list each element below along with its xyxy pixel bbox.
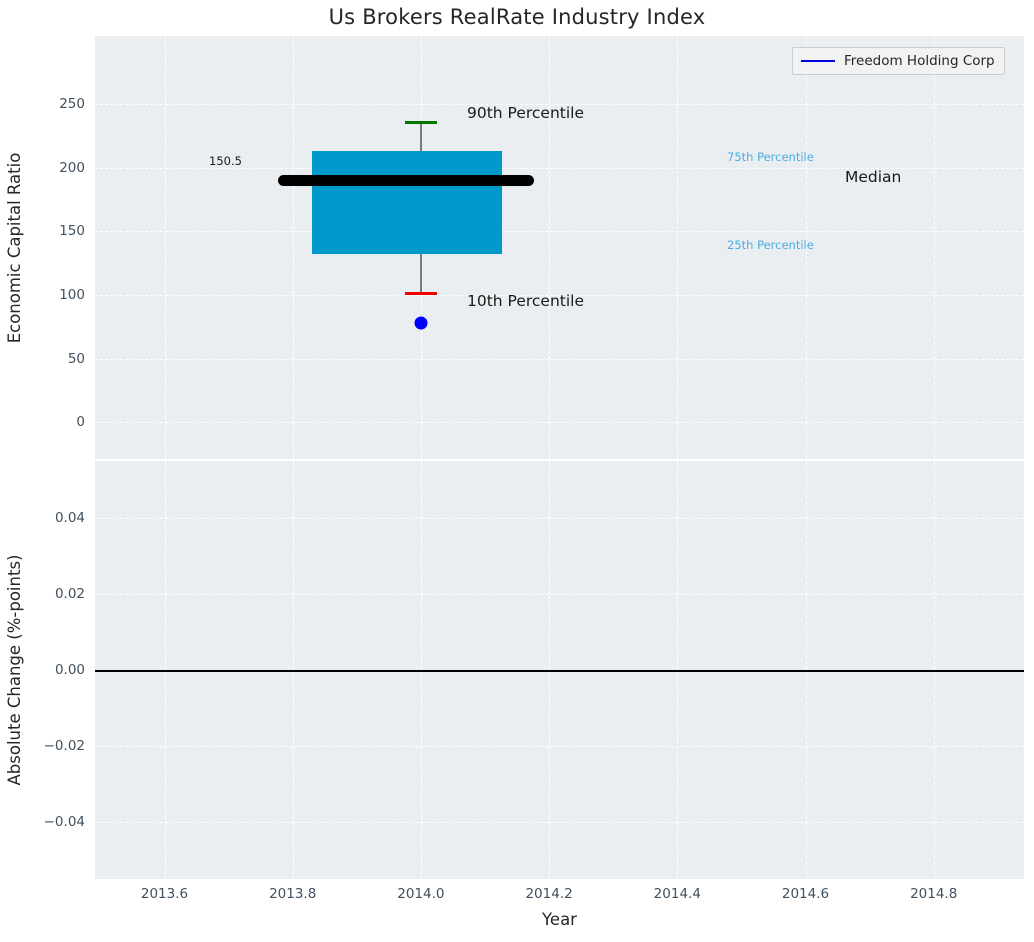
gridline-y-neg0p02 [95, 746, 1024, 747]
gridline-y-neg0p04 [95, 822, 1024, 823]
annotation-p25: 25th Percentile [727, 238, 814, 252]
p10-cap-marker [405, 292, 437, 295]
annotation-p75: 75th Percentile [727, 150, 814, 164]
ytick-bottom-0p04: 0.04 [55, 510, 85, 526]
bottom-y-axis-title-text: Absolute Change (%-points) [0, 555, 30, 786]
chart-title: Us Brokers RealRate Industry Index [0, 5, 1034, 29]
top-y-axis-title-text: Economic Capital Ratio [0, 152, 30, 343]
ytick-top-200: 200 [59, 160, 85, 176]
gridline-y-0p02 [95, 594, 1024, 595]
xtick-2014p8: 2014.8 [910, 886, 957, 902]
zero-reference-line [95, 670, 1024, 672]
gridline-x-2014p8 [934, 36, 935, 459]
xtick-2014p4: 2014.4 [654, 886, 701, 902]
annotation-p10: 10th Percentile [467, 292, 584, 310]
chart-legend[interactable]: Freedom Holding Corp [792, 47, 1005, 75]
ytick-top-250: 250 [59, 96, 85, 112]
freedom-holding-corp-point[interactable] [414, 317, 427, 330]
ytick-top-150: 150 [59, 223, 85, 239]
gridline-y-50 [95, 359, 1024, 360]
chart-figure: Us Brokers RealRate Industry Index 90th … [0, 0, 1034, 942]
xtick-2014p0: 2014.0 [397, 886, 444, 902]
ytick-bottom-0p00: 0.00 [55, 662, 85, 678]
xtick-2014p2: 2014.2 [525, 886, 572, 902]
ytick-top-50: 50 [68, 351, 85, 367]
ytick-top-0: 0 [76, 414, 85, 430]
xtick-2013p6: 2013.6 [141, 886, 188, 902]
median-bar [278, 175, 534, 186]
top-y-axis-title: Economic Capital Ratio [0, 36, 30, 459]
annotation-median: Median [845, 168, 901, 186]
bottom-y-axis-title: Absolute Change (%-points) [0, 461, 30, 879]
gridline-x-2014p2 [549, 36, 550, 459]
bottom-plot-area [95, 461, 1024, 879]
ytick-bottom-neg0p02: −0.02 [44, 738, 85, 754]
x-axis-title: Year [95, 910, 1024, 929]
ytick-top-100: 100 [59, 287, 85, 303]
annotation-p90: 90th Percentile [467, 104, 584, 122]
gridline-y-150 [95, 231, 1024, 232]
gridline-x-2013p8 [293, 36, 294, 459]
ytick-bottom-neg0p04: −0.04 [44, 814, 85, 830]
xtick-2013p8: 2013.8 [269, 886, 316, 902]
legend-line-icon [801, 60, 835, 62]
median-value-label: 150.5 [209, 154, 242, 168]
ytick-bottom-0p02: 0.02 [55, 586, 85, 602]
gridline-y-0 [95, 422, 1024, 423]
xtick-2014p6: 2014.6 [782, 886, 829, 902]
interquartile-box [312, 151, 502, 254]
gridline-x-2014p4 [677, 36, 678, 459]
gridline-y-0p04 [95, 518, 1024, 519]
gridline-x-2013p6 [165, 36, 166, 459]
top-plot-area [95, 36, 1024, 459]
p90-cap-marker [405, 121, 437, 124]
legend-entry-label: Freedom Holding Corp [844, 53, 995, 69]
